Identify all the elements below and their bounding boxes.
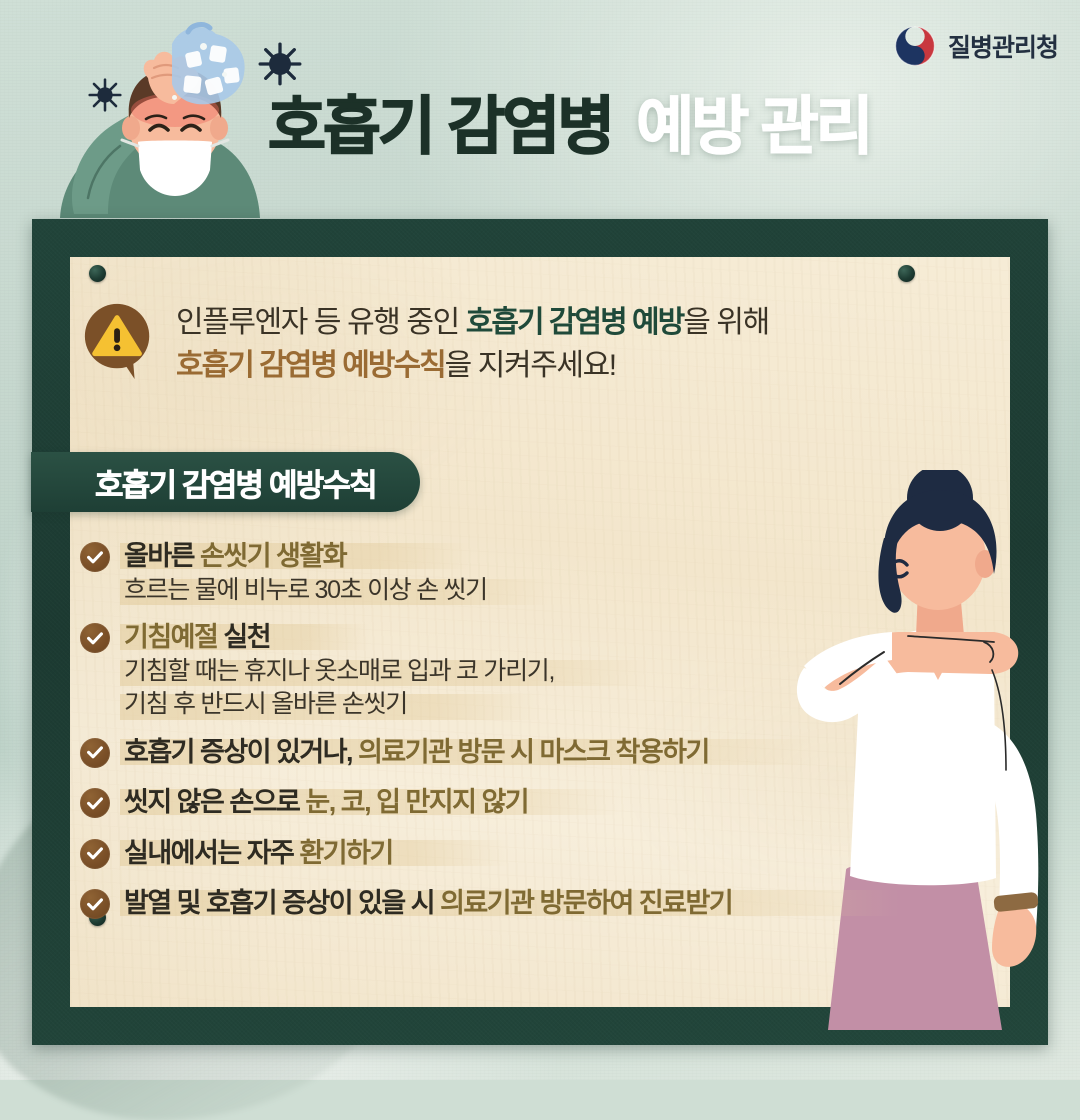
page-title-dark: 호흡기 감염병 [268, 96, 612, 159]
list-item-title: 올바른 손씻기 생활화 [124, 539, 346, 574]
page-title-light: 예방 관리 [636, 96, 870, 159]
list-item: 호흡기 증상이 있거나, 의료기관 방문 시 마스크 착용하기 [80, 735, 950, 770]
virus-icon-large [258, 42, 302, 86]
check-circle-icon [80, 788, 110, 818]
rivet-top-left [89, 265, 106, 282]
virus-icon-small [88, 78, 122, 112]
notice-text: 인플루엔자 등 유행 중인 호흡기 감염병 예방을 위해 호흡기 감염병 예방수… [176, 297, 769, 387]
notice-line-2: 호흡기 감염병 예방수칙을 지켜주세요! [176, 345, 769, 388]
decor-dot [222, 72, 227, 77]
check-circle-icon [80, 542, 110, 572]
list-item-title: 발열 및 호흡기 증상이 있을 시 의료기관 방문하여 진료받기 [124, 886, 732, 921]
taeguk-icon [893, 24, 937, 68]
section-banner: 호흡기 감염병 예방수칙 [31, 452, 420, 512]
kdca-logo: 질병관리청 [893, 24, 1058, 68]
section-banner-title: 호흡기 감염병 예방수칙 [95, 460, 376, 505]
header: 질병관리청 [0, 0, 1080, 215]
notice-line-1: 인플루엔자 등 유행 중인 호흡기 감염병 예방을 위해 [176, 302, 769, 345]
notice-block: 인플루엔자 등 유행 중인 호흡기 감염병 예방을 위해 호흡기 감염병 예방수… [80, 297, 930, 387]
check-circle-icon [80, 889, 110, 919]
list-item-detail: 기침 후 반드시 올바른 손씻기 [124, 688, 950, 722]
list-item-title: 실내에서는 자주 환기하기 [124, 836, 393, 871]
decor-dot [200, 43, 207, 50]
check-circle-icon [80, 839, 110, 869]
warning-bubble [80, 301, 158, 379]
decor-dot [172, 95, 177, 100]
list-item-title: 기침예절 실천 [124, 620, 270, 655]
list-item-title: 호흡기 증상이 있거나, 의료기관 방문 시 마스크 착용하기 [124, 735, 709, 770]
check-circle-icon [80, 738, 110, 768]
list-item: 발열 및 호흡기 증상이 있을 시 의료기관 방문하여 진료받기 [80, 886, 950, 921]
list-item-detail: 흐르는 물에 비누로 30초 이상 손 씻기 [124, 574, 950, 608]
list-item-title: 씻지 않은 손으로 눈, 코, 입 만지지 않기 [124, 785, 528, 820]
check-circle-icon [80, 623, 110, 653]
kdca-logo-text: 질병관리청 [948, 28, 1058, 64]
warning-triangle-icon [80, 301, 158, 379]
page-title: 호흡기 감염병 예방 관리 [268, 96, 871, 159]
list-item-detail: 기침할 때는 휴지나 옷소매로 입과 코 가리기, [124, 655, 950, 689]
woman-covering-cough-illustration [788, 470, 1080, 1030]
rivet-top-right [898, 265, 915, 282]
